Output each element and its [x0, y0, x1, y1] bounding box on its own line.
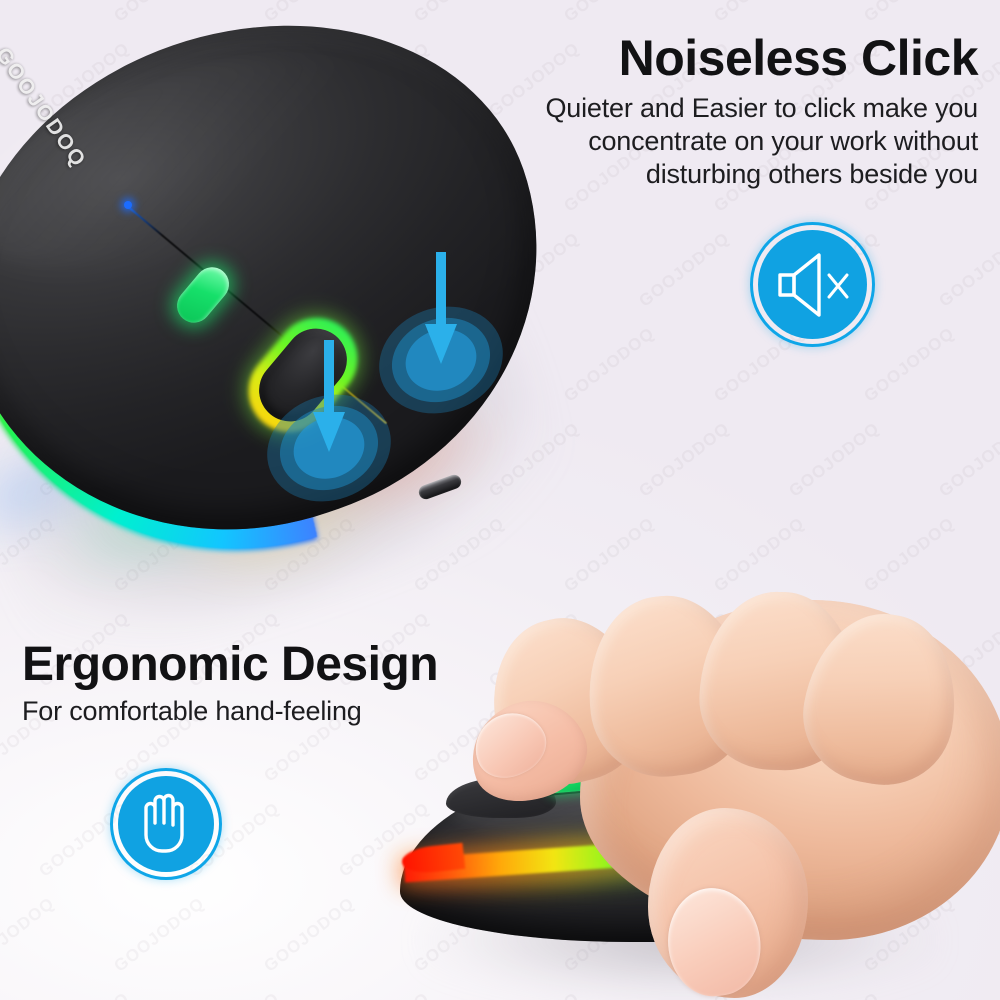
- ergonomic-design-text-block: Ergonomic Design For comfortable hand-fe…: [22, 640, 582, 728]
- click-arrow-down-icon: [312, 340, 346, 460]
- watermark-text: GOOJODOQ: [860, 0, 958, 26]
- watermark-text: GOOJODOQ: [785, 419, 883, 502]
- watermark-text: GOOJODOQ: [860, 324, 958, 407]
- open-hand-badge: [110, 768, 222, 880]
- watermark-text: GOOJODOQ: [185, 989, 283, 1000]
- watermark-text: GOOJODOQ: [0, 894, 59, 977]
- watermark-text: GOOJODOQ: [635, 229, 733, 312]
- watermark-text: GOOJODOQ: [860, 514, 958, 597]
- mute-speaker-badge: [750, 222, 875, 347]
- watermark-text: GOOJODOQ: [260, 894, 358, 977]
- open-hand-icon: [135, 791, 197, 857]
- noiseless-desc-line: concentrate on your work without: [358, 125, 978, 158]
- noiseless-title: Noiseless Click: [358, 32, 978, 85]
- product-poster: GOOJODOQGOOJODOQGOOJODOQGOOJODOQGOOJODOQ…: [0, 0, 1000, 1000]
- ergonomic-desc-line: For comfortable hand-feeling: [22, 695, 582, 728]
- watermark-text: GOOJODOQ: [710, 514, 808, 597]
- mute-speaker-icon: [774, 250, 852, 320]
- watermark-text: GOOJODOQ: [110, 894, 208, 977]
- noiseless-click-text-block: Noiseless Click Quieter and Easier to cl…: [358, 32, 978, 191]
- click-arrow-down-icon: [424, 252, 458, 372]
- ergonomic-description: For comfortable hand-feeling: [22, 695, 582, 728]
- watermark-text: GOOJODOQ: [935, 229, 1000, 312]
- watermark-text: GOOJODOQ: [710, 0, 808, 26]
- ergonomic-title: Ergonomic Design: [22, 640, 582, 691]
- noiseless-desc-line: disturbing others beside you: [358, 158, 978, 191]
- watermark-text: GOOJODOQ: [635, 419, 733, 502]
- noiseless-desc-line: Quieter and Easier to click make you: [358, 92, 978, 125]
- watermark-text: GOOJODOQ: [935, 419, 1000, 502]
- noiseless-description: Quieter and Easier to click make you con…: [358, 92, 978, 191]
- seam-led-dot: [124, 201, 132, 209]
- watermark-text: GOOJODOQ: [35, 989, 133, 1000]
